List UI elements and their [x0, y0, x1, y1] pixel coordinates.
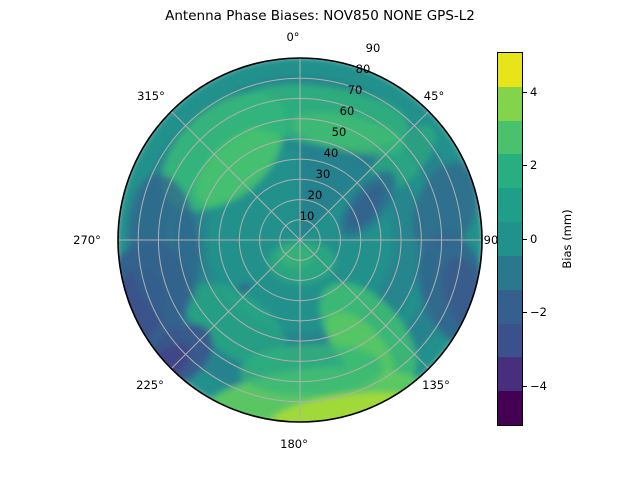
- angular-tick-180: 180°: [280, 437, 308, 451]
- colorbar-band-9: [498, 357, 522, 391]
- colorbar-tickmark-2: [523, 165, 527, 166]
- colorbar-band-4: [498, 188, 522, 222]
- colorbar-ticklabel-neg2: −2: [530, 305, 547, 319]
- colorbar-tickmark-4: [523, 92, 527, 93]
- colorbar-band-10: [498, 391, 522, 425]
- colorbar-band-0: [498, 53, 522, 87]
- radial-tick-50: 50: [332, 125, 347, 139]
- colorbar-band-1: [498, 87, 522, 121]
- colorbar-band-6: [498, 256, 522, 290]
- colorbar-ticklabel-0: 0: [530, 232, 537, 246]
- colorbar-tickmark-neg4: [523, 386, 527, 387]
- angular-tick-45: 45°: [424, 89, 444, 103]
- figure-canvas: Antenna Phase Biases: NOV850 NONE GPS-L2: [0, 0, 640, 480]
- angular-tick-135: 135°: [422, 378, 450, 392]
- colorbar-tickmark-neg2: [523, 312, 527, 313]
- colorbar-tickmark-0: [523, 239, 527, 240]
- colorbar-gradient: [497, 52, 523, 426]
- radial-tick-70: 70: [348, 83, 363, 97]
- angular-tick-270: 270°: [73, 233, 101, 247]
- colorbar-ticklabel-4: 4: [530, 85, 537, 99]
- colorbar-ticklabel-2: 2: [530, 158, 537, 172]
- colorbar-band-8: [498, 324, 522, 358]
- radial-tick-80: 80: [356, 62, 371, 76]
- colorbar-band-5: [498, 222, 522, 256]
- colorbar-band-7: [498, 290, 522, 324]
- radial-tick-40: 40: [324, 146, 339, 160]
- colorbar-ticklabel-neg4: −4: [530, 379, 547, 393]
- polar-plot-svg: [116, 56, 484, 424]
- polar-plot[interactable]: 10 20 30 40 50 60 70 80 90: [116, 56, 484, 424]
- angular-tick-0: 0°: [286, 30, 299, 44]
- colorbar-axis-label: Bias (mm): [560, 209, 574, 268]
- radial-tick-60: 60: [340, 104, 355, 118]
- angular-tick-315: 315°: [137, 89, 165, 103]
- radial-tick-30: 30: [316, 167, 331, 181]
- colorbar-band-2: [498, 121, 522, 155]
- radial-tick-20: 20: [308, 188, 323, 202]
- radial-tick-90: 90: [366, 41, 381, 55]
- polar-grid-spokes: [118, 58, 482, 422]
- page-title: Antenna Phase Biases: NOV850 NONE GPS-L2: [0, 8, 640, 24]
- colorbar-band-3: [498, 154, 522, 188]
- angular-tick-225: 225°: [136, 378, 164, 392]
- colorbar[interactable]: 4 2 0 −2 −4: [497, 52, 523, 426]
- radial-tick-10: 10: [300, 209, 315, 223]
